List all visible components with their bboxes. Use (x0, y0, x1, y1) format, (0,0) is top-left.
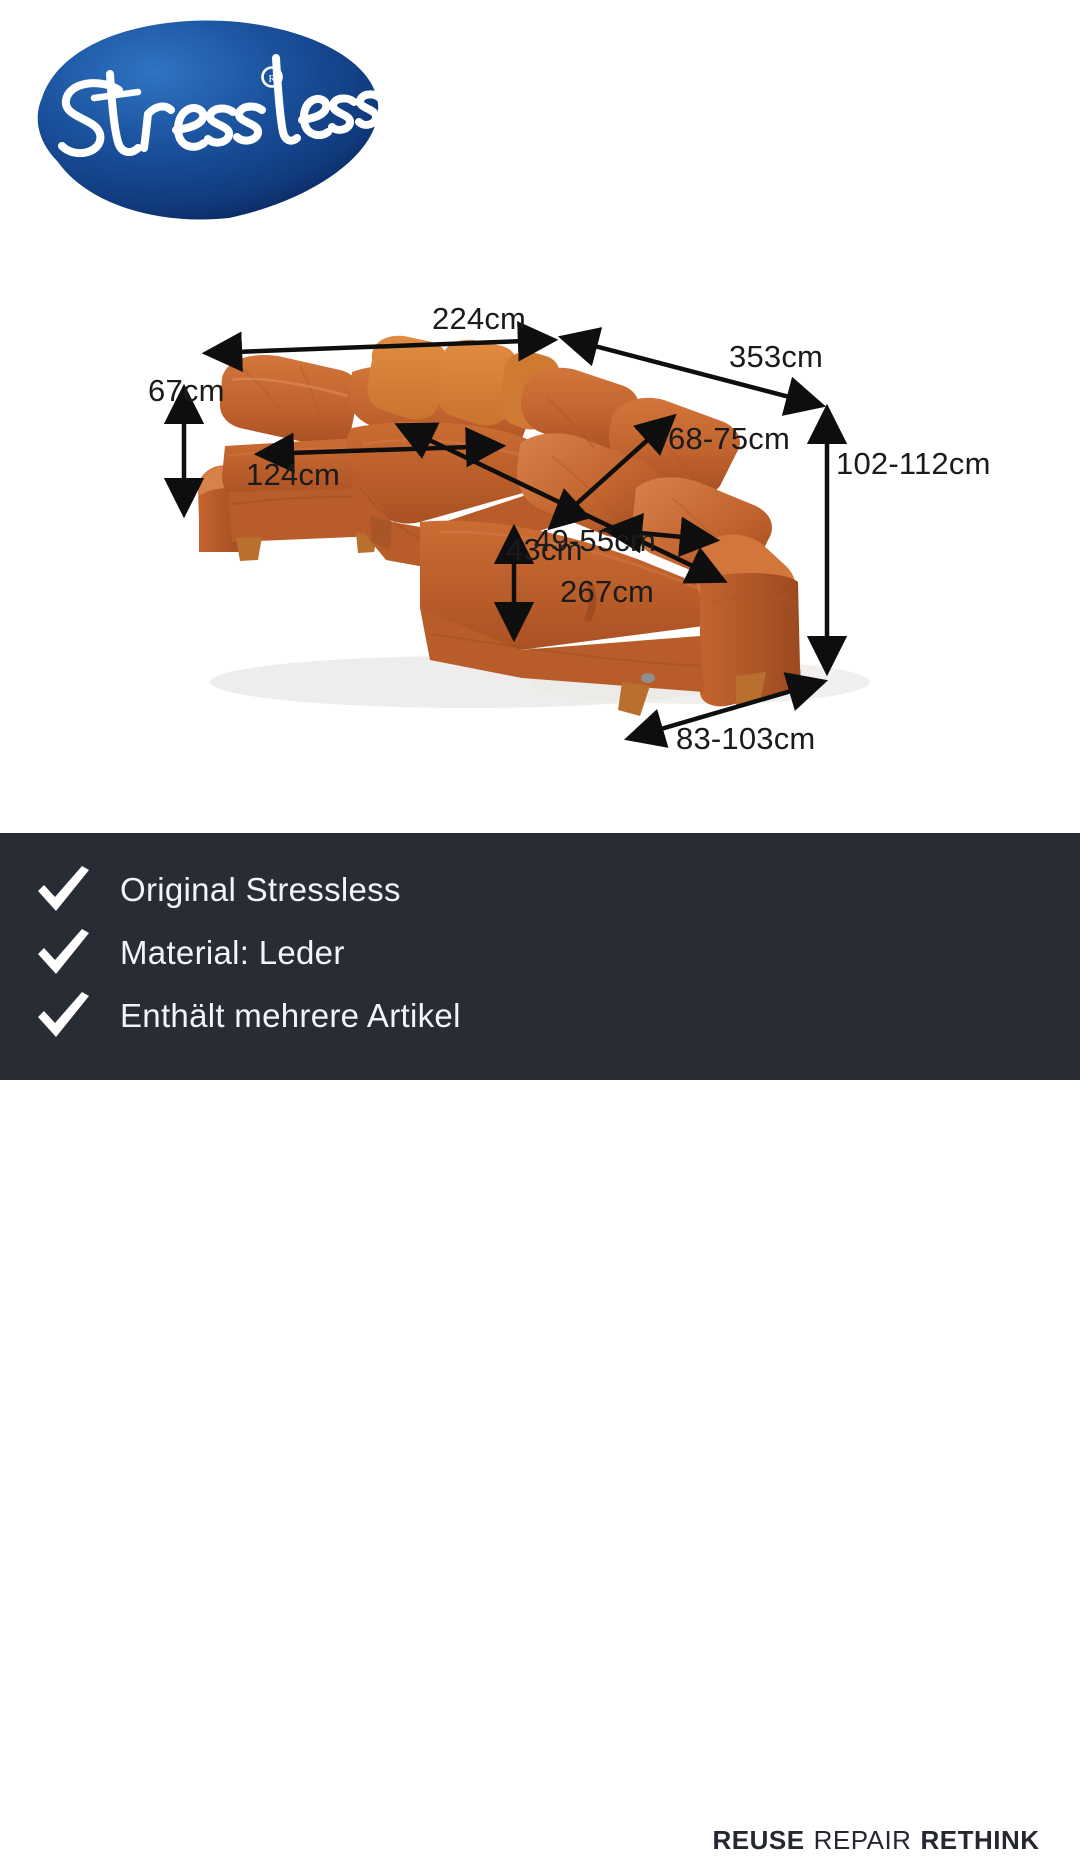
feature-item: Material: Leder (36, 921, 461, 984)
feature-label: Enthält mehrere Artikel (120, 997, 461, 1035)
stressless-logo: R (14, 12, 384, 227)
dimension-label-arm-height: 67cm (148, 375, 225, 406)
revive-wordmark: revive (822, 1721, 1010, 1795)
revive-logo: revive REUSE REPAIR RETHINK (722, 1710, 1052, 1870)
tagline-word-rethink: RETHINK (920, 1827, 1039, 1853)
product-image-card: R (0, 0, 1080, 1080)
dimension-label-depth-right-top: 353cm (729, 341, 823, 372)
feature-item: Original Stressless (36, 858, 461, 921)
dimension-label-length-right: 267cm (560, 576, 654, 607)
product-photo-with-dimensions: 224cm 353cm 67cm 68-75cm 102-112cm 124cm… (0, 230, 1080, 833)
dimension-label-back-height: 68-75cm (668, 423, 790, 454)
check-icon (36, 927, 92, 979)
info-banner: Original Stressless Material: Leder Enth… (0, 833, 1080, 1080)
feature-label: Material: Leder (120, 934, 345, 972)
dimension-label-width-top: 224cm (432, 303, 526, 334)
tagline-word-reuse: REUSE (713, 1827, 805, 1853)
feature-item: Enthält mehrere Artikel (36, 984, 461, 1047)
revive-tagline-bar: REUSE REPAIR RETHINK (722, 1818, 1030, 1862)
dimension-label-depth-bottom: 83-103cm (676, 723, 815, 754)
check-icon (36, 864, 92, 916)
svg-text:R: R (268, 73, 276, 85)
feature-list: Original Stressless Material: Leder Enth… (36, 858, 461, 1047)
check-icon (36, 990, 92, 1042)
tagline-word-repair: REPAIR (814, 1827, 912, 1853)
feature-label: Original Stressless (120, 871, 401, 909)
dimension-label-seat-width-left: 124cm (246, 459, 340, 490)
dimension-label-seat-height: 43cm (506, 534, 583, 565)
revive-leaf-icon (722, 1718, 804, 1798)
dimension-label-total-height: 102-112cm (836, 448, 991, 479)
